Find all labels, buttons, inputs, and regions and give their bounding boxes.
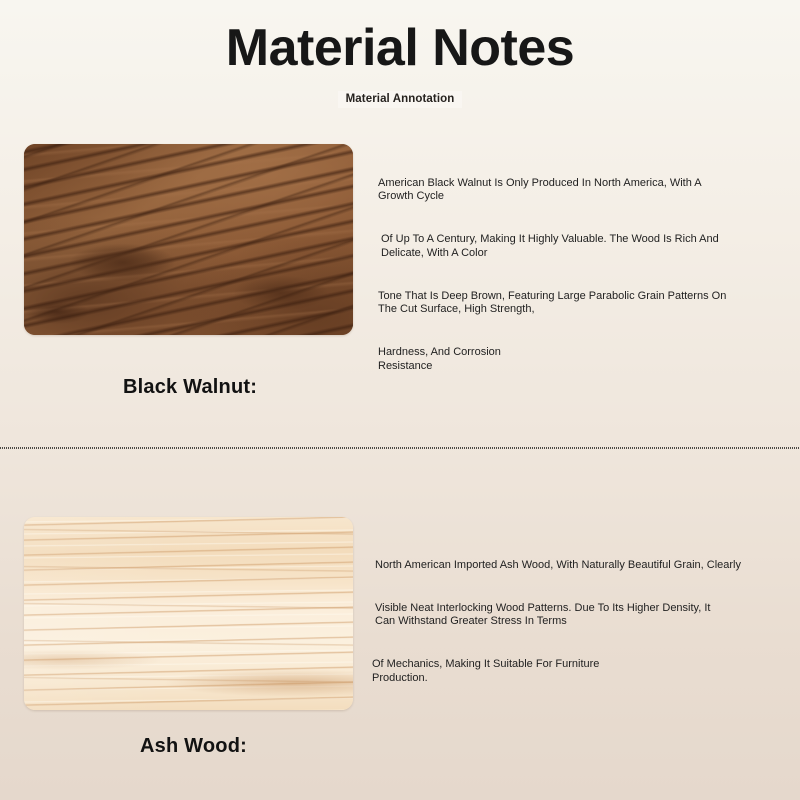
ash-paragraph-3: Of Mechanics, Making It Suitable For Fur…: [372, 658, 800, 685]
walnut-paragraph-1: American Black Walnut Is Only Produced I…: [378, 177, 800, 204]
walnut-description: American Black Walnut Is Only Produced I…: [378, 163, 800, 387]
page-title: Material Notes: [0, 0, 800, 79]
walnut-wood-texture: [24, 144, 353, 335]
section-divider: [0, 447, 800, 449]
ash-caption-label: Ash Wood:: [140, 735, 247, 758]
ash-paragraph-2: Visible Neat Interlocking Wood Patterns.…: [372, 602, 800, 629]
ash-swatch-image: [24, 517, 353, 710]
walnut-caption-label: Black Walnut:: [123, 376, 257, 399]
walnut-paragraph-2: Of Up To A Century, Making It Highly Val…: [378, 233, 800, 260]
ash-description: North American Imported Ash Wood, With N…: [372, 545, 800, 699]
subtitle-container: Material Annotation: [0, 91, 800, 108]
material-notes-page: Material Notes Material Annotation Ameri…: [0, 0, 800, 800]
walnut-paragraph-4: Hardness, And Corrosion Resistance: [378, 346, 800, 373]
walnut-paragraph-3: Tone That Is Deep Brown, Featuring Large…: [378, 290, 800, 317]
page-subtitle: Material Annotation: [338, 91, 463, 108]
page-header: Material Notes Material Annotation: [0, 0, 800, 108]
ash-wood-texture: [24, 517, 353, 710]
ash-paragraph-1: North American Imported Ash Wood, With N…: [372, 559, 800, 573]
walnut-swatch-image: [24, 144, 353, 335]
